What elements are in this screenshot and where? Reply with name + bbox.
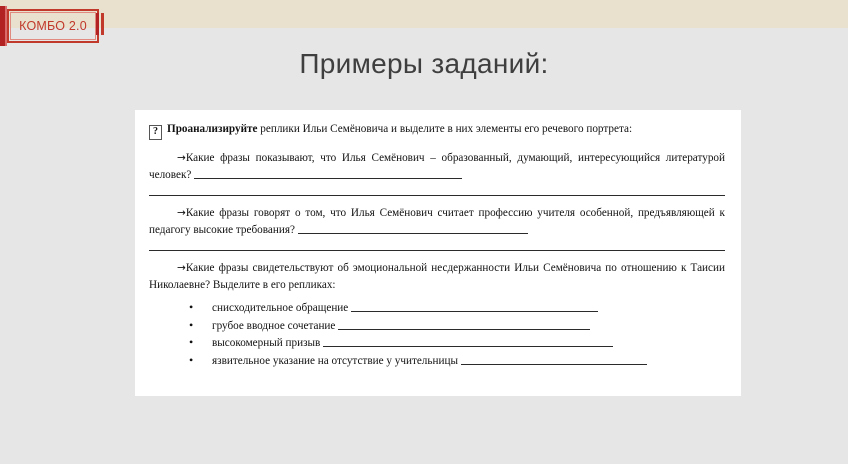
top-banner-band [0, 0, 848, 28]
list-item: грубое вводное сочетание [149, 318, 725, 336]
bullet-4-label: язвительное указание на отсутствие у учи… [212, 355, 458, 367]
answer-blank-1b[interactable] [149, 194, 725, 196]
arrow-icon: → [177, 262, 186, 274]
arrow-icon: → [177, 152, 186, 164]
task-instruction-rest: реплики Ильи Семёновича и выделите в них… [258, 123, 633, 135]
logo-label: КОМБО 2.0 [7, 9, 99, 43]
question-item-2: →Какие фразы говорят о том, что Илья Сем… [149, 205, 725, 251]
answer-bullet-list: снисходительное обращение грубое вводное… [149, 300, 725, 370]
question-item-1: →Какие фразы показывают, что Илья Семёно… [149, 150, 725, 196]
list-item: высокомерный призыв [149, 335, 725, 353]
left-accent-strip-secondary [5, 6, 7, 46]
bullet-3-label: высокомерный призыв [212, 337, 320, 349]
list-item: язвительное указание на отсутствие у учи… [149, 353, 725, 371]
answer-blank-b4[interactable] [461, 353, 647, 365]
question-mark-icon: ? [149, 125, 162, 140]
list-item: снисходительное обращение [149, 300, 725, 318]
question-item-3: →Какие фразы свидетельствуют об эмоциона… [149, 260, 725, 293]
worksheet-document: ?Проанализируйте реплики Ильи Семёновича… [135, 110, 741, 396]
answer-blank-2a[interactable] [298, 222, 528, 234]
task-instruction-lead: Проанализируйте [167, 123, 258, 135]
brand-logo: КОМБО 2.0 [7, 9, 99, 43]
answer-blank-b1[interactable] [351, 300, 598, 312]
answer-blank-b3[interactable] [323, 335, 613, 347]
task-instruction: ?Проанализируйте реплики Ильи Семёновича… [149, 121, 725, 140]
answer-blank-1a[interactable] [194, 167, 462, 179]
bullet-2-label: грубое вводное сочетание [212, 320, 335, 332]
answer-blank-2b[interactable] [149, 249, 725, 251]
page-title: Примеры заданий: [0, 48, 848, 80]
answer-blank-b2[interactable] [338, 318, 590, 330]
bullet-1-label: снисходительное обращение [212, 302, 348, 314]
logo-bars-icon [96, 13, 106, 35]
arrow-icon: → [177, 207, 186, 219]
question-3-text: Какие фразы свидетельствуют об эмоционал… [149, 262, 725, 291]
